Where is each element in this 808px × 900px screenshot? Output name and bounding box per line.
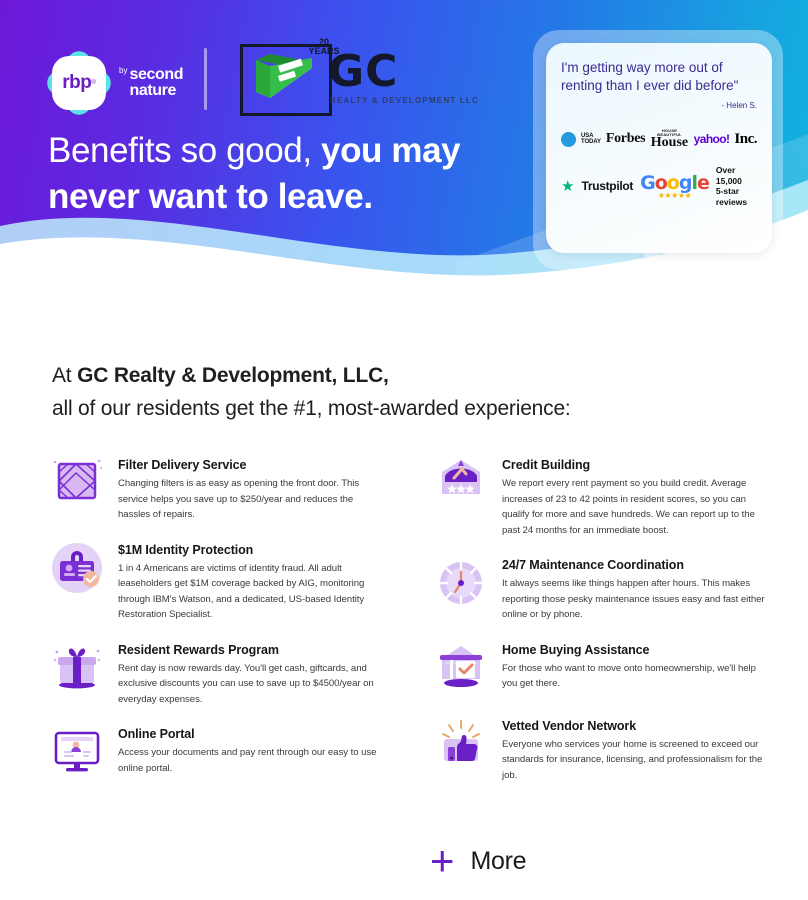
- second-nature-wordmark: bysecondnature: [119, 67, 183, 100]
- google-logo: Google ★★★★★: [640, 174, 709, 200]
- yahoo-logo: yahoo!: [694, 132, 730, 146]
- second-nature-line1: second: [129, 67, 183, 83]
- benefit-text: Credit Building We report every rent pay…: [502, 452, 770, 538]
- benefit-text: Online Portal Access your documents and …: [118, 721, 386, 776]
- forbes-logo: Forbes: [606, 131, 645, 147]
- benefit-text: Home Buying Assistance For those who wan…: [502, 637, 770, 692]
- benefit-item: Credit Building We report every rent pay…: [430, 452, 770, 538]
- hero-headline: Benefits so good, you may never want to …: [48, 128, 518, 220]
- benefit-text: 24/7 Maintenance Coordination It always …: [502, 552, 770, 623]
- testimonial-card: I'm getting way more out of renting than…: [546, 43, 772, 253]
- benefit-description: Rent day is now rewards day. You'll get …: [118, 661, 386, 708]
- benefit-item: Online Portal Access your documents and …: [46, 721, 386, 783]
- reviews-line1: Over 15,000: [716, 165, 757, 186]
- testimonial-author: - Helen S.: [561, 101, 757, 110]
- hero-banner: rbp® bysecondnature 20 YEARS GC REALTY &…: [0, 0, 808, 300]
- benefits-column-right: Credit Building We report every rent pay…: [430, 452, 770, 797]
- headline-line1-bold: you may: [321, 131, 460, 170]
- benefit-title: Vetted Vendor Network: [502, 719, 770, 733]
- benefit-description: It always seems like things happen after…: [502, 576, 770, 623]
- headline-line1-normal: Benefits so good,: [48, 131, 321, 170]
- usa-today-line2: TODAY: [581, 139, 601, 145]
- benefit-description: Access your documents and pay rent throu…: [118, 745, 386, 776]
- reviews-line2: 5-star reviews: [716, 186, 757, 207]
- benefits-column-left: Filter Delivery Service Changing filters…: [46, 452, 386, 797]
- intro-subline: all of our residents get the #1, most-aw…: [52, 393, 752, 426]
- benefit-text: $1M Identity Protection 1 in 4 Americans…: [118, 537, 386, 623]
- air-filter-icon: [46, 452, 108, 514]
- gift-box-icon: [46, 637, 108, 699]
- press-logos-row: USA TODAY Forbes HOUSE BEAUTIFUL House y…: [561, 129, 757, 149]
- benefit-title: Filter Delivery Service: [118, 458, 386, 472]
- rbp-wordmark: rbp: [62, 72, 91, 94]
- trustpilot-star-icon: ★: [561, 179, 574, 194]
- google-wordmark: Google: [640, 174, 709, 192]
- trustpilot-logo: Trustpilot: [581, 179, 633, 193]
- second-nature-line2: nature: [129, 83, 183, 99]
- inc-logo: Inc.: [734, 131, 757, 148]
- benefit-title: Resident Rewards Program: [118, 643, 386, 657]
- rbp-second-nature-logo: rbp® bysecondnature: [48, 44, 183, 122]
- rbp-badge-icon: rbp®: [48, 52, 110, 114]
- benefit-description: For those who want to move onto homeowne…: [502, 661, 770, 692]
- credit-badge-stars-icon: [430, 452, 492, 514]
- plus-icon: +: [430, 840, 455, 882]
- benefit-description: Everyone who services your home is scree…: [502, 737, 770, 784]
- benefit-title: Online Portal: [118, 727, 386, 741]
- benefit-title: Home Buying Assistance: [502, 643, 770, 657]
- rbp-trademark-icon: ®: [91, 80, 95, 86]
- benefit-item: Filter Delivery Service Changing filters…: [46, 452, 386, 523]
- intro-prefix: At: [52, 364, 77, 387]
- intro-heading: At GC Realty & Development, LLC, all of …: [52, 360, 752, 425]
- clock-icon: [430, 552, 492, 614]
- benefit-item: $1M Identity Protection 1 in 4 Americans…: [46, 537, 386, 623]
- thumbs-up-icon: [430, 713, 492, 775]
- house-beautiful-logo: HOUSE BEAUTIFUL House: [650, 129, 688, 149]
- more-row[interactable]: + More: [430, 840, 526, 882]
- benefit-item: Resident Rewards Program Rent day is now…: [46, 637, 386, 708]
- benefit-item: 24/7 Maintenance Coordination It always …: [430, 552, 770, 623]
- usa-today-logo: USA TODAY: [581, 133, 601, 145]
- gc-initials: GC: [328, 46, 398, 97]
- house-wordmark: House: [650, 137, 688, 150]
- more-label: More: [471, 847, 527, 876]
- reviews-count: Over 15,000 5-star reviews: [716, 165, 757, 208]
- identity-card-lock-icon: [46, 537, 108, 599]
- ratings-row: ★ Trustpilot Google ★★★★★ Over 15,000 5-…: [561, 165, 757, 208]
- gc-realty-logo: 20 YEARS GC REALTY & DEVELOPMENT LLC: [240, 38, 510, 120]
- benefit-item: Home Buying Assistance For those who wan…: [430, 637, 770, 699]
- benefit-description: We report every rent payment so you buil…: [502, 476, 770, 538]
- benefit-title: $1M Identity Protection: [118, 543, 386, 557]
- testimonial-quote: I'm getting way more out of renting than…: [561, 59, 757, 95]
- by-label: by: [119, 67, 127, 75]
- flyer-page: rbp® bysecondnature 20 YEARS GC REALTY &…: [0, 0, 808, 900]
- benefit-description: 1 in 4 Americans are victims of identity…: [118, 561, 386, 623]
- headline-line2-bold: never want to leave.: [48, 177, 373, 216]
- logo-divider: [204, 48, 207, 110]
- benefit-text: Filter Delivery Service Changing filters…: [118, 452, 386, 523]
- monitor-portal-icon: [46, 721, 108, 783]
- usa-today-circle-icon: [561, 132, 576, 147]
- gc-subtitle: REALTY & DEVELOPMENT LLC: [330, 96, 479, 105]
- rbp-octagon-shape: rbp®: [52, 56, 106, 110]
- house-check-icon: [430, 637, 492, 699]
- benefit-text: Vetted Vendor Network Everyone who servi…: [502, 713, 770, 784]
- benefit-title: 24/7 Maintenance Coordination: [502, 558, 770, 572]
- benefit-description: Changing filters is as easy as opening t…: [118, 476, 386, 523]
- benefit-title: Credit Building: [502, 458, 770, 472]
- benefit-text: Resident Rewards Program Rent day is now…: [118, 637, 386, 708]
- intro-company-name: GC Realty & Development, LLC,: [77, 364, 389, 387]
- benefit-item: Vetted Vendor Network Everyone who servi…: [430, 713, 770, 784]
